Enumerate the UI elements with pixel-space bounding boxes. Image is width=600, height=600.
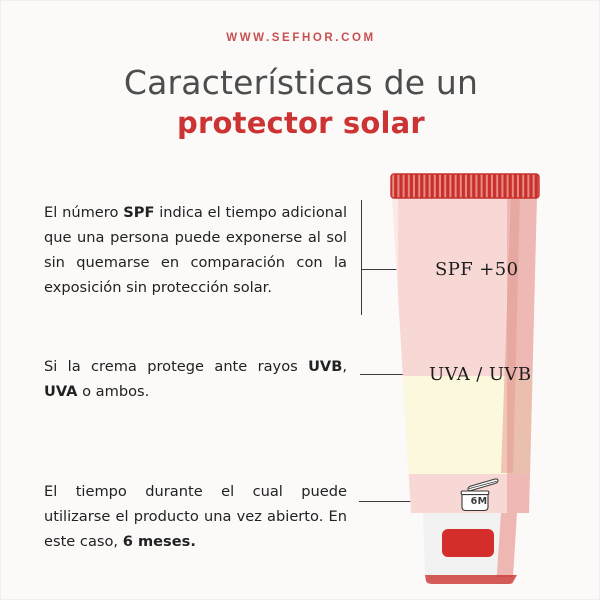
emphasis-text: 6 meses. bbox=[123, 533, 196, 550]
callout-label-spf: SPF +50 bbox=[435, 259, 518, 280]
paragraph-pao-description: El tiempo durante el cual puede utilizar… bbox=[44, 479, 347, 554]
tube-cream-band bbox=[389, 376, 579, 474]
leader-bracket-spf bbox=[361, 200, 362, 315]
body-text: , bbox=[342, 358, 347, 375]
emphasis-text: SPF bbox=[123, 204, 154, 221]
pao-months-label: 6M bbox=[457, 496, 501, 507]
page-title-line-1: Características de un bbox=[1, 63, 600, 102]
body-text: o ambos. bbox=[77, 383, 149, 400]
tube-nozzle-label bbox=[442, 529, 494, 557]
emphasis-text: UVA bbox=[44, 383, 77, 400]
paragraph-spf-description: El número SPF indica el tiempo adicional… bbox=[44, 200, 347, 300]
site-url-text: WWW.SEFHOR.COM bbox=[1, 32, 600, 44]
tube-base-shadow bbox=[425, 575, 517, 584]
infographic-canvas: WWW.SEFHOR.COM Características de un pro… bbox=[0, 0, 600, 600]
callout-label-uv: UVA / UVB bbox=[429, 364, 531, 385]
tube-left-highlight bbox=[389, 173, 398, 585]
paragraph-uv-description: Si la crema protege ante rayos UVB, UVA … bbox=[44, 354, 347, 404]
body-text: Si la crema protege ante rayos bbox=[44, 358, 308, 375]
page-title-line-2: protector solar bbox=[1, 106, 600, 140]
pao-open-jar-icon: 6M bbox=[457, 477, 501, 513]
emphasis-text: UVB bbox=[308, 358, 342, 375]
tube-cap-crimp bbox=[391, 174, 539, 198]
pao-jar-rim bbox=[461, 491, 489, 495]
body-text: El número bbox=[44, 204, 123, 221]
